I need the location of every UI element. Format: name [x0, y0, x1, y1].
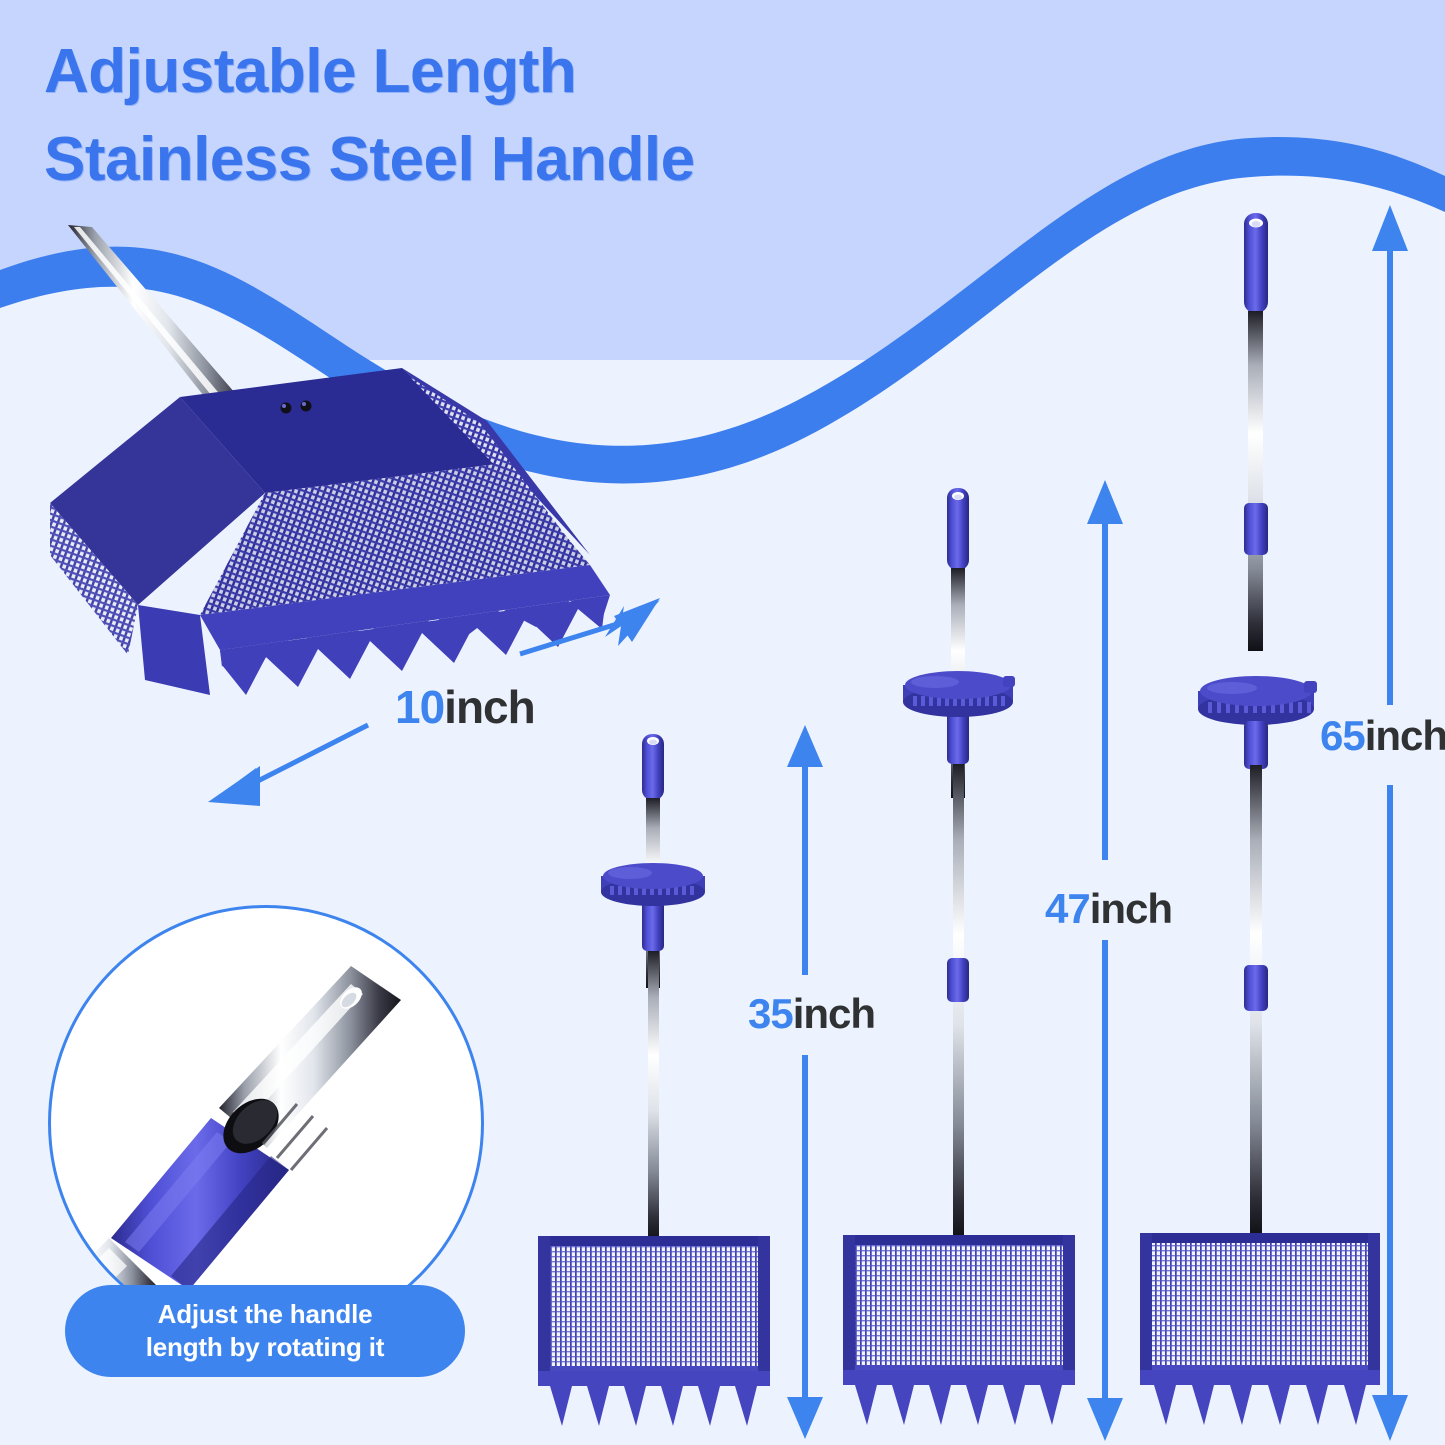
height-dimension-arrow-47 [1085, 480, 1125, 1442]
rake35-grip [642, 734, 664, 800]
rake35-sawtooth [538, 1371, 770, 1426]
rake-35-inch [530, 726, 790, 1441]
measurement-number: 35 [748, 990, 793, 1037]
measurement-number: 10 [395, 681, 444, 733]
measurement-unit: inch [1365, 712, 1445, 759]
telescoping-handle-closeup [48, 905, 484, 1341]
rake65-collar-mid [1244, 721, 1268, 769]
rake47-head [843, 1235, 1075, 1425]
rake65-collar-upper [1244, 503, 1268, 555]
infographic-canvas: Adjustable Length Stainless Steel Handle [0, 0, 1445, 1445]
rake47-collar-lower [947, 958, 969, 1002]
measurement-unit: inch [444, 681, 535, 733]
rake47-foot-pedal [903, 671, 1015, 717]
measurement-label-10inch: 10inch [395, 680, 535, 734]
rake-47-inch [835, 480, 1095, 1442]
page-title: Adjustable Length Stainless Steel Handle [44, 28, 695, 204]
height-dimension-arrow-65 [1370, 205, 1410, 1442]
scoop-rivet [301, 401, 312, 412]
rake47-sawtooth [843, 1370, 1075, 1425]
rake65-grip [1244, 213, 1268, 313]
callout-line-2: length by rotating it [146, 1331, 384, 1364]
height-dimension-arrow-35 [785, 725, 825, 1440]
inset-upper-pole [213, 966, 401, 1170]
measurement-number: 65 [1320, 712, 1365, 759]
rake47-collar [947, 712, 969, 764]
callout-line-1: Adjust the handle [158, 1298, 373, 1331]
rake65-collar-lower [1244, 965, 1268, 1011]
rake65-sawtooth [1140, 1370, 1380, 1425]
rake65-foot-pedal [1198, 676, 1317, 725]
rake-65-inch [1130, 205, 1400, 1442]
title-line-1: Adjustable Length [44, 37, 576, 106]
title-line-2: Stainless Steel Handle [44, 125, 695, 194]
rake35-collar [642, 901, 664, 951]
measurement-number: 47 [1045, 885, 1090, 932]
rake35-foot-pedal [601, 863, 705, 906]
adjust-handle-callout-badge: Adjust the handle length by rotating it [65, 1285, 465, 1377]
scoop-rivet [281, 403, 292, 414]
measurement-label-65inch: 65inch [1320, 712, 1445, 760]
rake65-head [1140, 1233, 1380, 1425]
rake35-head [538, 1236, 770, 1426]
rake47-grip [947, 488, 969, 570]
